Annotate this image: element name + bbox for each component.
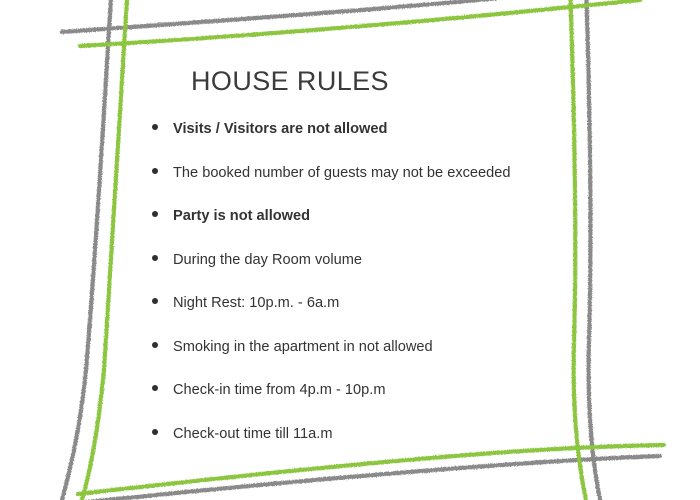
bullet-icon bbox=[152, 124, 158, 130]
bullet-icon bbox=[152, 342, 158, 348]
bullet-icon bbox=[152, 298, 158, 304]
rule-text: Smoking in the apartment in not allowed bbox=[173, 336, 433, 358]
bullet-icon bbox=[152, 429, 158, 435]
bullet-icon bbox=[152, 168, 158, 174]
bullet-icon bbox=[152, 385, 158, 391]
list-item: Party is not allowed bbox=[150, 205, 580, 249]
list-item: Visits / Visitors are not allowed bbox=[150, 118, 580, 162]
bullet-icon bbox=[152, 211, 158, 217]
rule-text: The booked number of guests may not be e… bbox=[173, 162, 511, 184]
rule-text: During the day Room volume bbox=[173, 249, 362, 271]
page-title: HOUSE RULES bbox=[0, 66, 580, 97]
list-item: During the day Room volume bbox=[150, 249, 580, 293]
rule-text: Night Rest: 10p.m. - 6a.m bbox=[173, 292, 339, 314]
list-item: Night Rest: 10p.m. - 6a.m bbox=[150, 292, 580, 336]
sign-content: HOUSE RULES Visits / Visitors are not al… bbox=[0, 0, 700, 500]
house-rules-sign: HOUSE RULES Visits / Visitors are not al… bbox=[0, 0, 700, 500]
rule-text: Check-in time from 4p.m - 10p.m bbox=[173, 379, 385, 401]
rule-text: Party is not allowed bbox=[173, 205, 310, 227]
list-item: The booked number of guests may not be e… bbox=[150, 162, 580, 206]
list-item: Check-out time till 11a.m bbox=[150, 423, 580, 467]
rule-text: Check-out time till 11a.m bbox=[173, 423, 333, 445]
rule-text: Visits / Visitors are not allowed bbox=[173, 118, 387, 140]
bullet-icon bbox=[152, 255, 158, 261]
list-item: Smoking in the apartment in not allowed bbox=[150, 336, 580, 380]
house-rules-list: Visits / Visitors are not allowed The bo… bbox=[150, 118, 580, 466]
list-item: Check-in time from 4p.m - 10p.m bbox=[150, 379, 580, 423]
